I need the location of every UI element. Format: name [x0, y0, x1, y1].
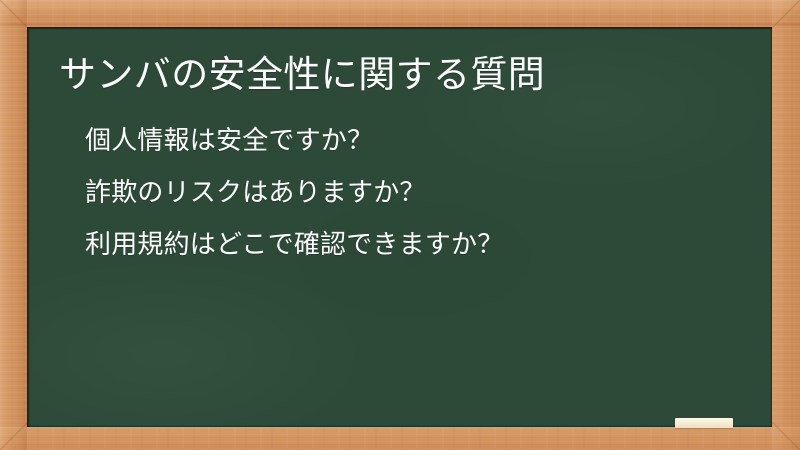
board-bevel-left — [27, 27, 30, 427]
frame-right-rail — [772, 0, 800, 450]
frame-top-seam — [0, 21, 800, 26]
question-item-1: 個人情報は安全ですか？ — [85, 128, 503, 154]
question-item-2: 詐欺のリスクはありますか？ — [85, 180, 503, 206]
board-bevel-top — [27, 27, 772, 30]
chalk-stick — [675, 418, 733, 428]
slide-title: サンバの安全性に関する質問 — [59, 52, 545, 98]
frame-left-rail — [0, 0, 27, 450]
frame-bottom-rail — [0, 427, 800, 450]
frame-top-highlight — [0, 0, 800, 16]
question-item-3: 利用規約はどこで確認できますか？ — [85, 232, 503, 258]
blackboard-surface: サンバの安全性に関する質問 個人情報は安全ですか？ 詐欺のリスクはありますか？ … — [27, 27, 772, 427]
blackboard-frame: サンバの安全性に関する質問 個人情報は安全ですか？ 詐欺のリスクはありますか？ … — [0, 0, 800, 450]
question-list: 個人情報は安全ですか？ 詐欺のリスクはありますか？ 利用規約はどこで確認できます… — [85, 128, 503, 258]
